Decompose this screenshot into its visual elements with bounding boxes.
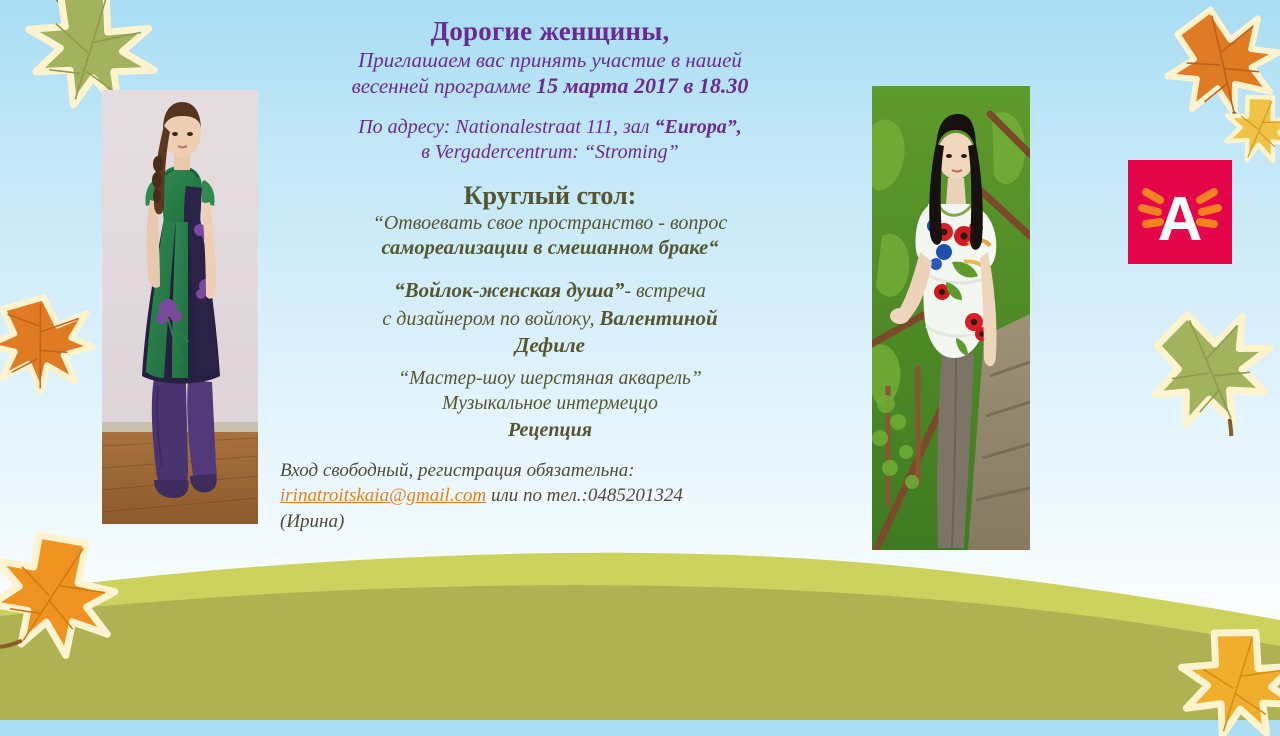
- address-block: По адресу: Nationalestraat 111, зал “Eur…: [280, 115, 820, 165]
- roundtable-title: Круглый стол:: [280, 180, 820, 211]
- leaf-orange-left-icon: [0, 292, 96, 397]
- felt-title-suffix: - встреча: [624, 280, 706, 302]
- felt-blouse-photo: [872, 86, 1030, 550]
- contact-phone-prefix: или по тел.:: [486, 485, 588, 506]
- invitation-block: Приглашаем вас принять участие в нашей в…: [280, 48, 820, 100]
- program-master-show: “Мастер-шоу шерстяная акварель”: [398, 368, 701, 389]
- felt-line-2-prefix: с дизайнером по войлоку,: [382, 308, 599, 330]
- roundtable-line-1: “Отвоевать свое пространство - вопрос: [373, 212, 728, 234]
- invite-line-2-prefix: весенней программе: [352, 74, 537, 98]
- leaf-green-right-icon: [1146, 306, 1276, 436]
- invite-datetime: 15 марта 2017 в 18.30: [536, 73, 748, 98]
- poster-slide: { "background": { "sky_top": "#a8ddf3", …: [0, 0, 1280, 720]
- roundtable-quote: “Отвоевать свое пространство - вопрос са…: [280, 211, 820, 262]
- contact-email-link[interactable]: irinatroitskaia@gmail.com: [280, 485, 486, 506]
- contact-name: (Ирина): [280, 511, 344, 532]
- leaf-orange-bottom-left-icon: [0, 530, 124, 660]
- address-prefix: По адресу: Nationalestraat 111, зал: [358, 116, 654, 138]
- hills-decoration: [0, 550, 1280, 720]
- contact-block: Вход свободный, регистрация обязательна:…: [280, 458, 820, 534]
- felt-dress-photo: [102, 90, 258, 524]
- roundtable-line-2: самореализации в смешанном браке“: [381, 237, 718, 259]
- program-block: “Мастер-шоу шерстяная акварель” Музыкаль…: [280, 366, 820, 443]
- greeting-heading: Дорогие женщины,: [280, 16, 820, 48]
- leaf-yellow-top-right-icon: [1222, 92, 1280, 168]
- felt-meeting-block: “Войлок-женская душа”- встреча с дизайне…: [280, 277, 820, 360]
- program-reception: Рецепция: [508, 419, 592, 441]
- logo-letter: A: [1158, 185, 1203, 254]
- address-hall: “Europa”,: [655, 116, 742, 138]
- antwerp-a-logo: A: [1128, 160, 1232, 264]
- invite-line-1: Приглашаем вас принять участие в нашей: [358, 48, 742, 72]
- poster-text-column: Дорогие женщины, Приглашаем вас принять …: [280, 16, 820, 534]
- felt-defile: Дефиле: [515, 333, 585, 357]
- felt-title: “Войлок-женская душа”: [394, 278, 624, 302]
- address-line-2: в Vergadercentrum: “Stroming”: [421, 141, 679, 163]
- felt-designer: Валентиной: [600, 306, 718, 330]
- program-music: Музыкальное интермеццо: [442, 393, 658, 414]
- contact-intro: Вход свободный, регистрация обязательна:: [280, 460, 635, 481]
- contact-phone: 0485201324: [588, 485, 683, 506]
